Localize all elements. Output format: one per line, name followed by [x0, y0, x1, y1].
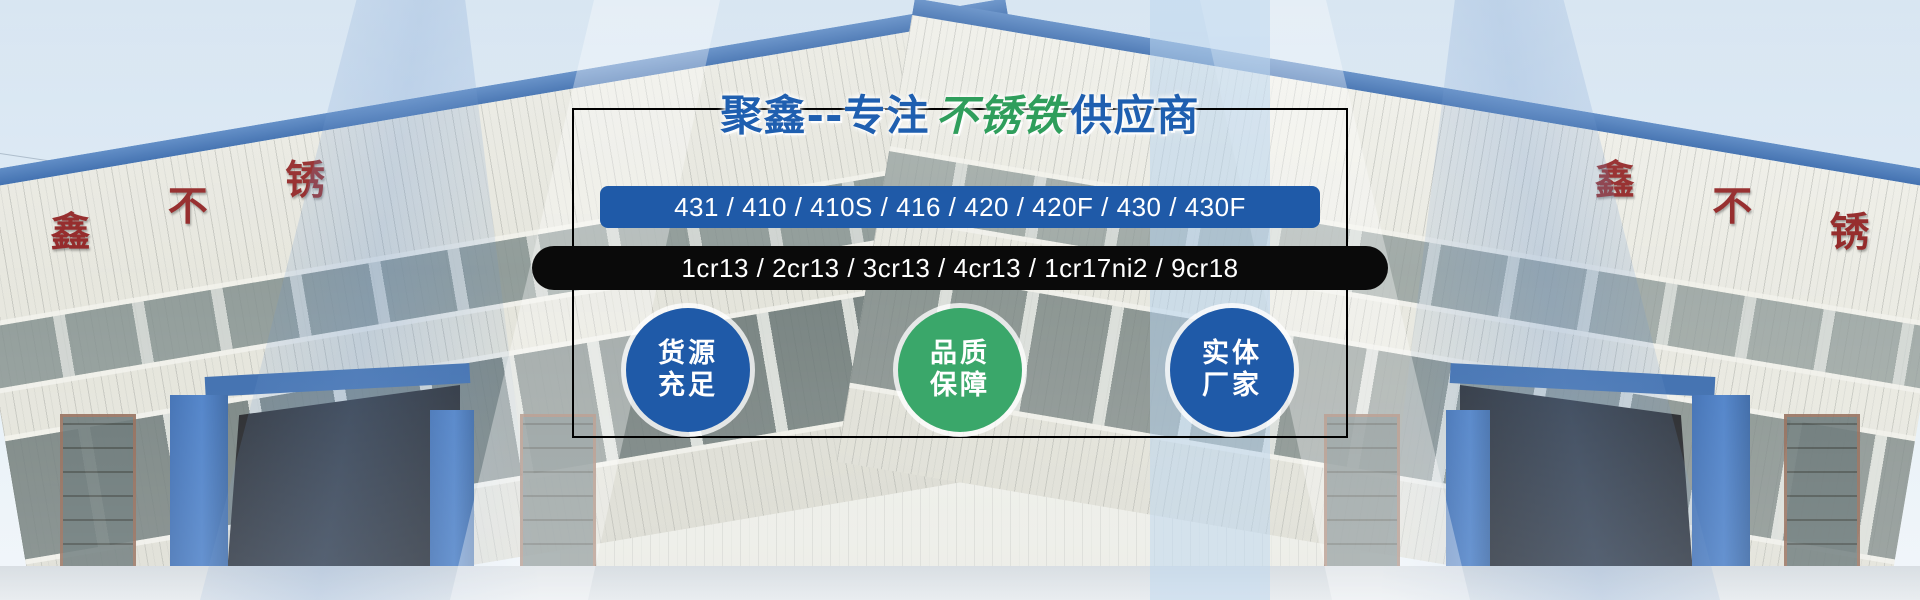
- badge-quality-line2: 保障: [930, 371, 990, 402]
- frame-bottom-gap: [892, 434, 1028, 442]
- stainless-grade-pill: 431 / 410 / 410S / 416 / 420 / 420F / 43…: [600, 186, 1320, 228]
- badge-factory-line2: 厂家: [1202, 371, 1262, 402]
- frame-bottom-gap: [1164, 434, 1300, 442]
- headline-tail: 供应商: [1070, 91, 1199, 140]
- badge-supply: 货源 充足: [626, 308, 750, 432]
- badge-supply-line1: 货源: [658, 339, 718, 370]
- badge-factory: 实体 厂家: [1170, 308, 1294, 432]
- badge-factory-line1: 实体: [1202, 339, 1262, 370]
- headline: 聚鑫--专注不锈铁供应商: [0, 82, 1920, 143]
- headline-lead: 聚鑫: [721, 91, 807, 140]
- cr-grade-pill: 1cr13 / 2cr13 / 3cr13 / 4cr13 / 1cr17ni2…: [532, 246, 1388, 290]
- frame-bottom-gap: [620, 434, 756, 442]
- badge-quality: 品质 保障: [898, 308, 1022, 432]
- headline-highlight: 不锈铁: [929, 91, 1070, 140]
- badge-supply-line2: 充足: [658, 371, 718, 402]
- headline-dash: --: [807, 91, 844, 140]
- badge-quality-line1: 品质: [930, 339, 990, 370]
- headline-focus: 专注: [843, 91, 929, 140]
- promo-banner: 鑫 不 锈 锈 不 鑫: [0, 0, 1920, 600]
